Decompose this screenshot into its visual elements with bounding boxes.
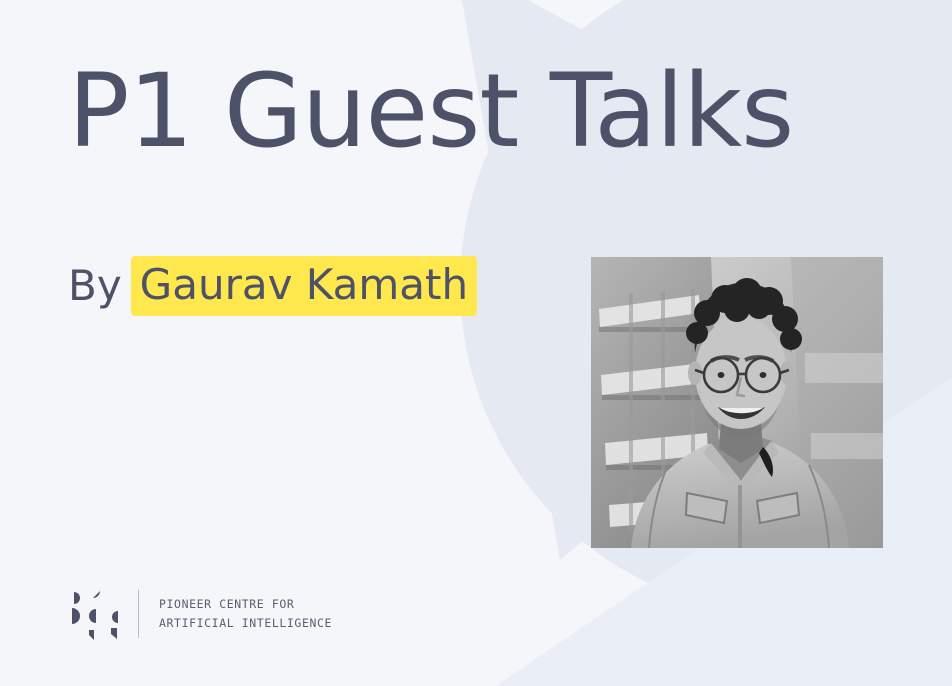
byline-prefix: By: [68, 261, 131, 311]
logo-wordmark: Pioneer Centre for Artificial Intelligen…: [159, 595, 332, 633]
logo-divider: [138, 590, 139, 638]
pioneer-centre-logo: Pioneer Centre for Artificial Intelligen…: [68, 588, 332, 640]
pioneer-centre-dots-logomark: [68, 588, 126, 640]
byline: By Gaurav Kamath: [68, 256, 477, 316]
speaker-name-highlight: Gaurav Kamath: [131, 256, 477, 316]
logo-wordmark-line-2: Artificial Intelligence: [159, 614, 332, 633]
presentation-slide: P1 Guest Talks By Gaurav Kamath: [0, 0, 952, 686]
slide-title: P1 Guest Talks: [68, 61, 793, 163]
speaker-portrait: [591, 257, 883, 548]
portrait-image: [591, 257, 883, 548]
logo-wordmark-line-1: Pioneer Centre for: [159, 595, 332, 614]
